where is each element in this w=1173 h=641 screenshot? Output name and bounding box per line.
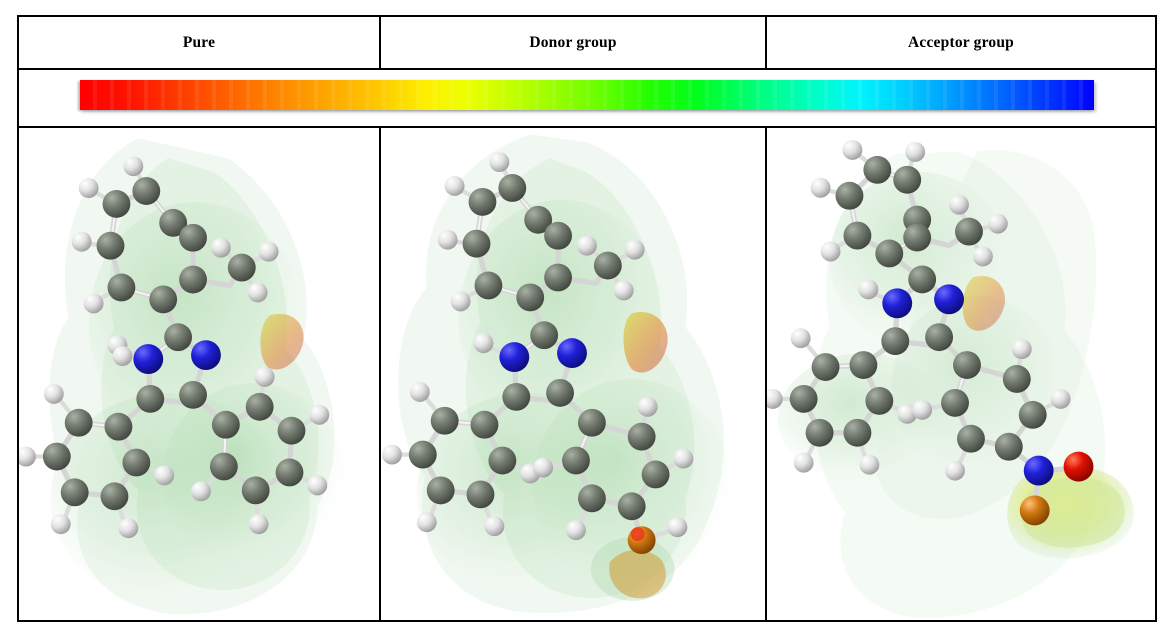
molecule-panel-acceptor: [767, 128, 1155, 620]
molecule-render-donor: [381, 128, 765, 620]
table-header-row: Pure Donor group Acceptor group: [19, 17, 1155, 70]
esp-isosurface-acceptor: [778, 150, 1134, 618]
column-header-donor: Donor group: [381, 17, 767, 68]
molecule-panel-donor: [381, 128, 767, 620]
esp-colorbar-gradient: [80, 80, 1094, 110]
molecule-row: [19, 128, 1155, 620]
column-header-pure: Pure: [19, 17, 381, 68]
molecule-render-pure: [19, 128, 379, 620]
molecule-render-acceptor: [767, 128, 1155, 620]
column-header-donor-label: Donor group: [529, 34, 616, 52]
molecule-panel-pure: [19, 128, 381, 620]
esp-comparison-figure: Pure Donor group Acceptor group: [17, 15, 1157, 622]
column-header-acceptor: Acceptor group: [767, 17, 1155, 68]
esp-colorbar: [78, 80, 1094, 112]
column-header-acceptor-label: Acceptor group: [908, 34, 1014, 52]
column-header-pure-label: Pure: [183, 34, 215, 52]
oxygen-atom-donor: [628, 526, 656, 554]
esp-colorbar-track: [80, 80, 1094, 110]
colorbar-row: [19, 70, 1155, 128]
